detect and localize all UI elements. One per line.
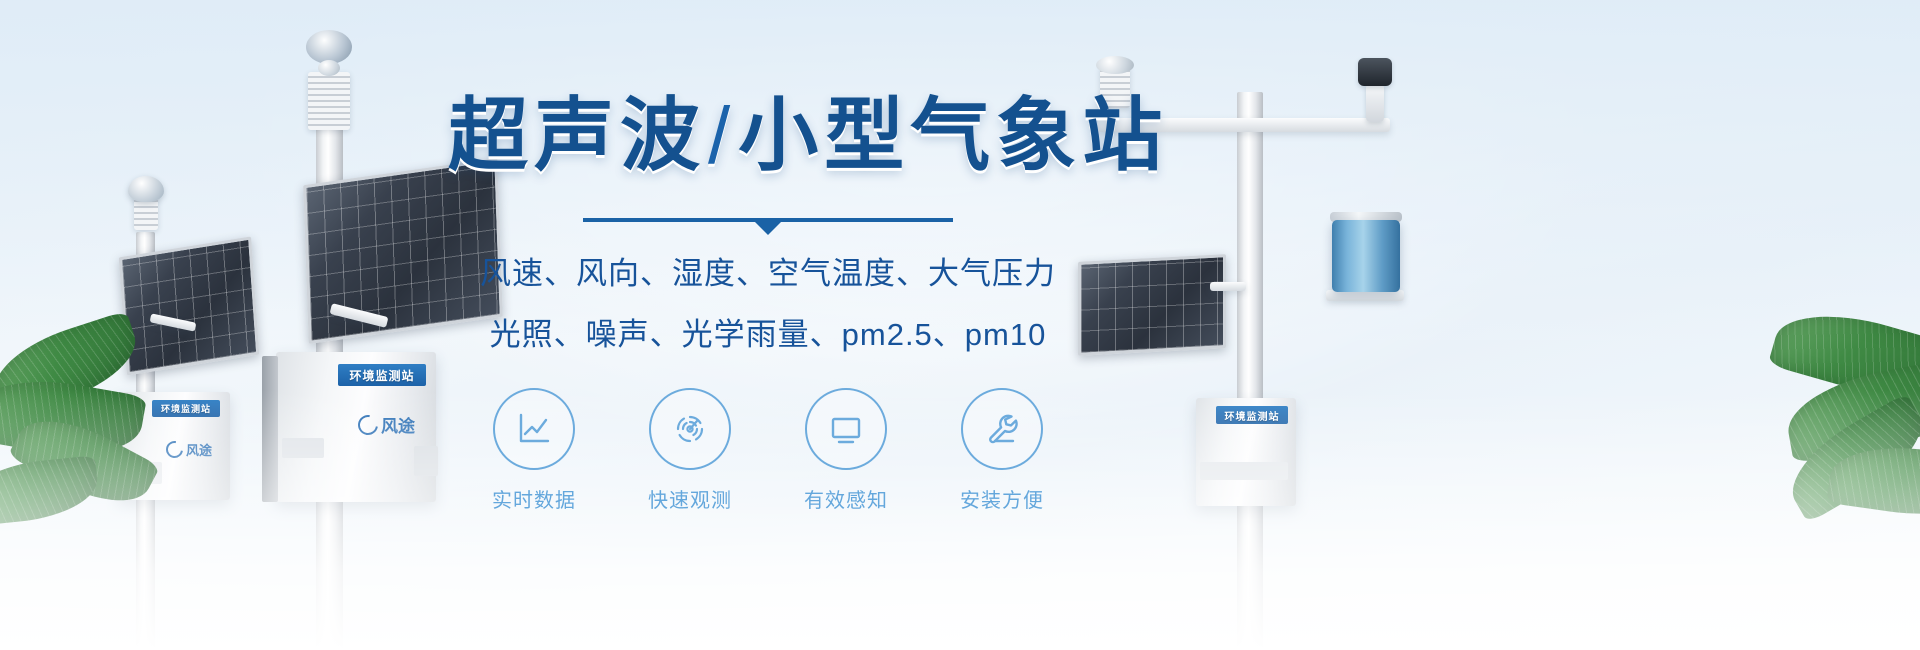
monitor-display-icon xyxy=(824,407,868,451)
feature-label: 实时数据 xyxy=(492,484,576,513)
subtitle-line-1: 风速、风向、湿度、空气温度、大气压力 xyxy=(448,248,1088,293)
title-sub: 小型气象站 xyxy=(738,91,1168,180)
feature-icon-circle xyxy=(805,388,887,470)
hero-copy-block: 超声波/小型气象站 风速、风向、湿度、空气温度、大气压力 光照、噪声、光学雨量、… xyxy=(448,96,1088,513)
solar-panel-left xyxy=(119,236,260,375)
wrench-tool-icon xyxy=(980,407,1024,451)
feature-item-realtime-data[interactable]: 实时数据 xyxy=(475,388,593,513)
radar-observation-icon xyxy=(668,407,712,451)
ultrasonic-sensor-center xyxy=(306,30,352,64)
ultrasonic-sensor-right xyxy=(1096,56,1134,74)
feature-label: 快速观测 xyxy=(648,484,732,513)
subtitle-line-2: 光照、噪声、光学雨量、pm2.5、pm10 xyxy=(448,309,1088,354)
feature-icon-circle xyxy=(649,388,731,470)
feature-item-fast-observation[interactable]: 快速观测 xyxy=(631,388,749,513)
feature-list: 实时数据 快速观测 xyxy=(448,388,1088,513)
feature-item-effective-sensing[interactable]: 有效感知 xyxy=(787,388,905,513)
cabinet-label-center: 环境监测站 xyxy=(338,364,426,386)
radiation-shield-center xyxy=(308,72,350,130)
feature-icon-circle xyxy=(961,388,1043,470)
product-hero-banner: 环境监测站 风途 环境监测站 风途 xyxy=(0,0,1920,650)
panel-support-arm-right xyxy=(1210,282,1246,291)
title-divider xyxy=(583,218,953,222)
rain-gauge-right xyxy=(1332,220,1400,292)
page-title: 超声波/小型气象站 xyxy=(448,96,1088,176)
sensor-neck-center xyxy=(318,60,340,76)
feature-label: 有效感知 xyxy=(804,484,888,513)
title-separator: / xyxy=(706,91,738,180)
solar-panel-right xyxy=(1078,254,1226,356)
feature-item-easy-installation[interactable]: 安装方便 xyxy=(943,388,1061,513)
camera-post-right xyxy=(1366,84,1384,122)
feature-label: 安装方便 xyxy=(960,484,1044,513)
feature-icon-circle xyxy=(493,388,575,470)
line-chart-icon xyxy=(512,407,556,451)
sensor-dome-left xyxy=(128,176,164,202)
camera-sensor-right xyxy=(1358,58,1392,86)
title-main: 超声波 xyxy=(448,91,706,180)
